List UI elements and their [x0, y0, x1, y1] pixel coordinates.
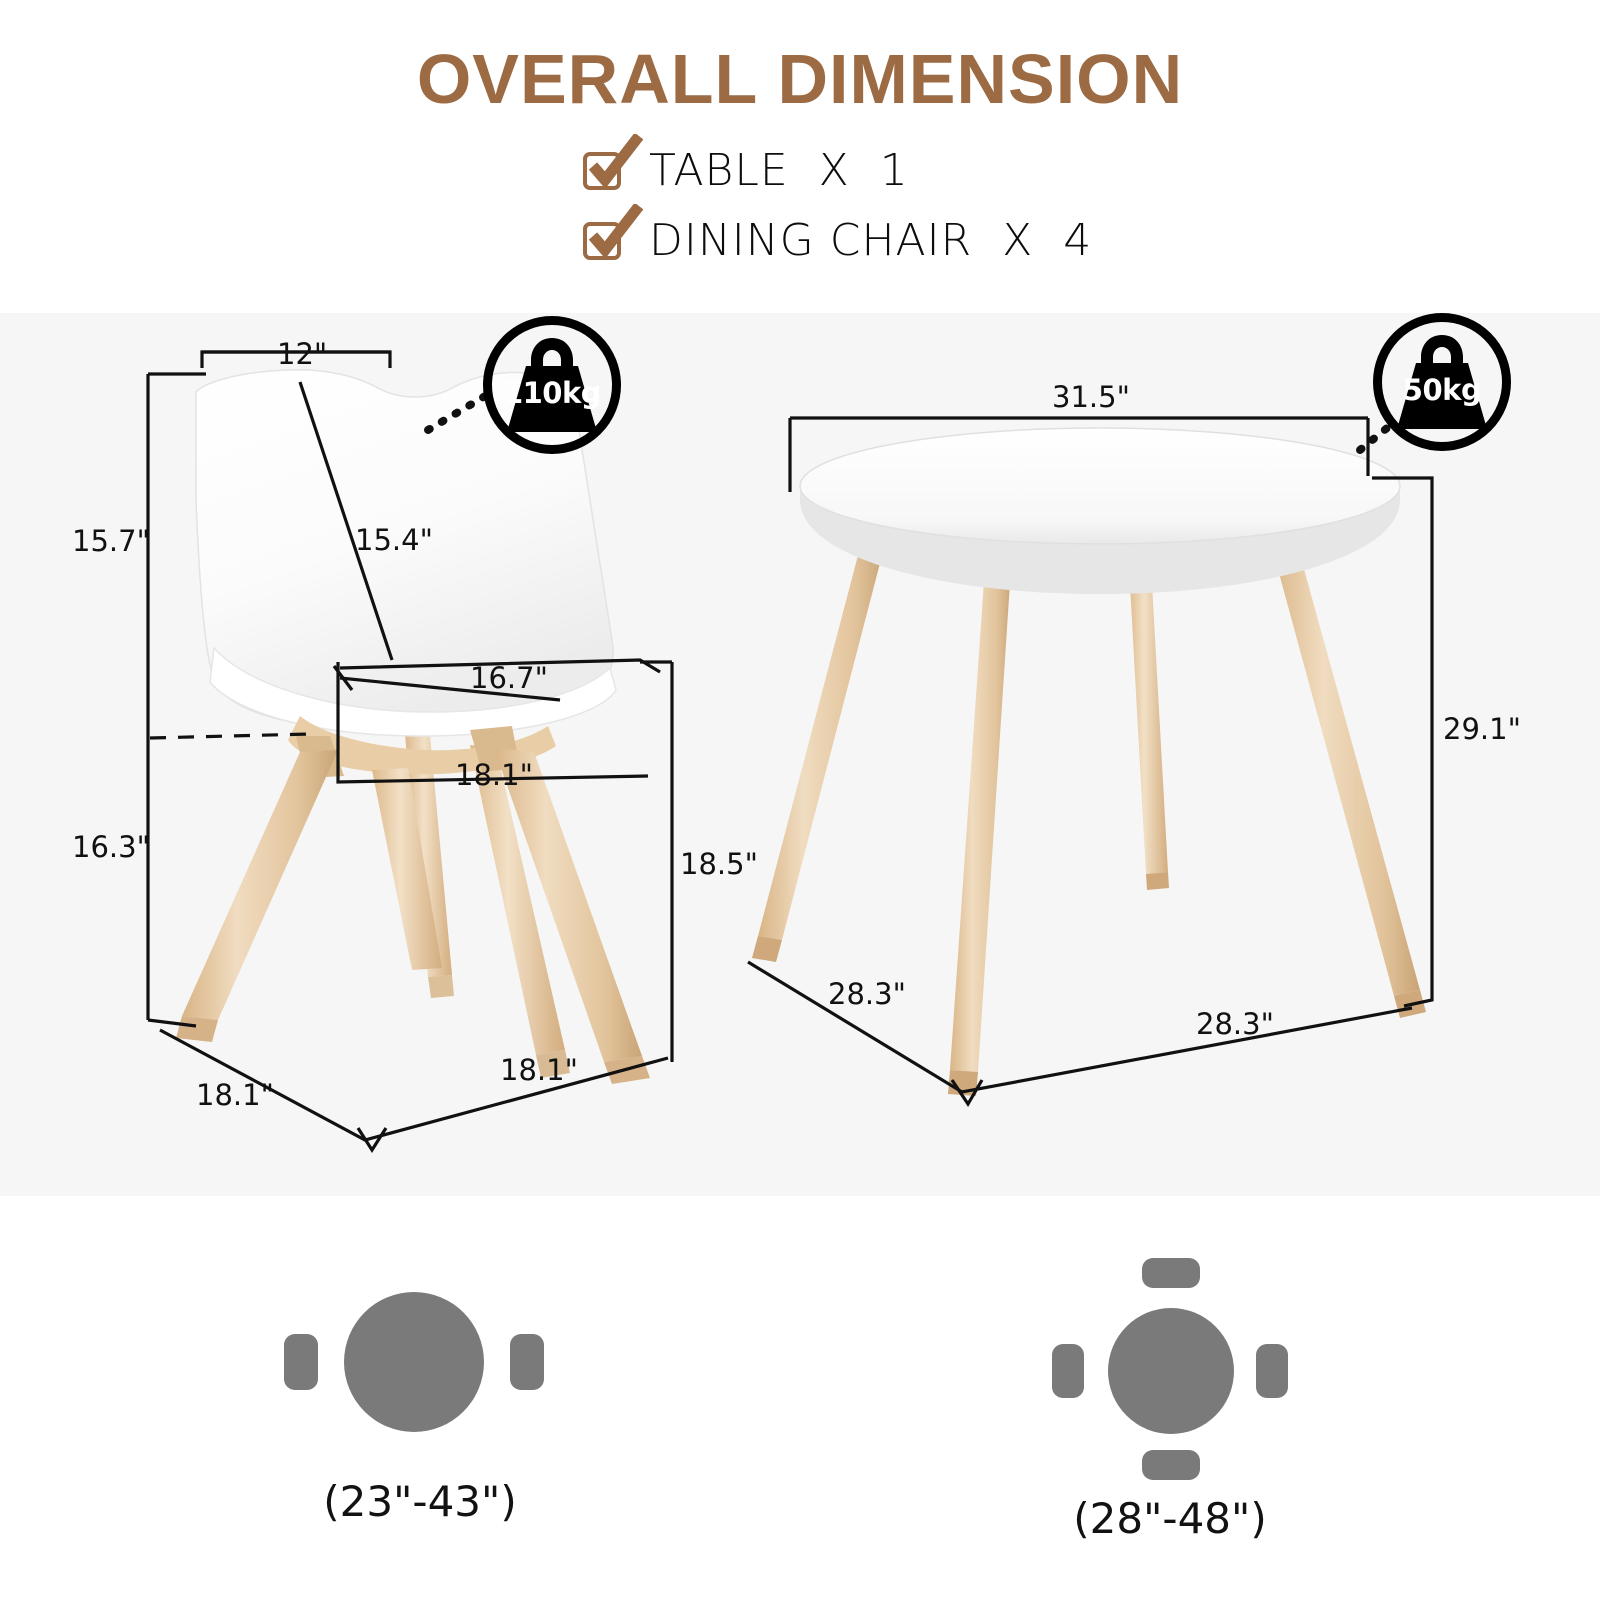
chair-weight-badge: 110kg	[483, 316, 621, 454]
table-top-shape	[344, 1292, 484, 1432]
chair-dim-seat-height: 18.5"	[680, 847, 758, 881]
checklist-item-label: TABLE X 1	[649, 145, 909, 196]
infographic-root: OVERALL DIMENSION TABLE X 1 DINING CHAIR…	[0, 0, 1600, 1600]
four-seat-caption: (28"-48")	[930, 1494, 1410, 1543]
chair-dim-seat-depth: 16.7"	[470, 661, 548, 695]
two-seat-layout: (23"-43")	[260, 1255, 660, 1555]
chair-dim-base-top: 18.1"	[455, 758, 533, 792]
checkbox-checked-icon	[583, 218, 627, 262]
chair-weight-value: 110kg	[483, 376, 621, 410]
chair-shape-bottom	[1142, 1450, 1200, 1480]
four-seat-layout: (28"-48")	[1050, 1232, 1450, 1552]
checkbox-checked-icon	[583, 148, 627, 192]
chair-shape-left	[1052, 1344, 1084, 1398]
checklist: TABLE X 1 DINING CHAIR X 4	[583, 139, 1092, 279]
page-title: OVERALL DIMENSION	[0, 44, 1600, 114]
table-dim-span-right: 28.3"	[1196, 1007, 1274, 1041]
chair-dim-back-diagonal: 15.4"	[355, 523, 433, 557]
table-weight-badge: 50kg	[1373, 313, 1511, 451]
table-dim-span-left: 28.3"	[828, 977, 906, 1011]
chair-dim-leg-height: 16.3"	[72, 830, 150, 864]
dimension-panel	[0, 313, 1600, 1196]
chair-dim-base-side: 18.1"	[196, 1078, 274, 1112]
table-dim-top-diameter: 31.5"	[1052, 380, 1130, 414]
chair-shape-right	[1256, 1344, 1288, 1398]
checklist-item-table: TABLE X 1	[583, 139, 1092, 201]
checklist-item-dining-chair: DINING CHAIR X 4	[583, 209, 1092, 271]
two-seat-caption: (23"-43")	[170, 1477, 670, 1526]
chair-dim-back-height: 15.7"	[72, 524, 150, 558]
chair-shape-left	[284, 1334, 318, 1390]
table-dim-height: 29.1"	[1443, 712, 1521, 746]
chair-shape-right	[510, 1334, 544, 1390]
checklist-item-label: DINING CHAIR X 4	[649, 215, 1092, 266]
table-top-shape	[1108, 1308, 1234, 1434]
chair-dim-base-front: 18.1"	[500, 1053, 578, 1087]
table-weight-value: 50kg	[1373, 373, 1511, 407]
chair-dim-back-width: 12"	[277, 337, 327, 371]
chair-shape-top	[1142, 1258, 1200, 1288]
